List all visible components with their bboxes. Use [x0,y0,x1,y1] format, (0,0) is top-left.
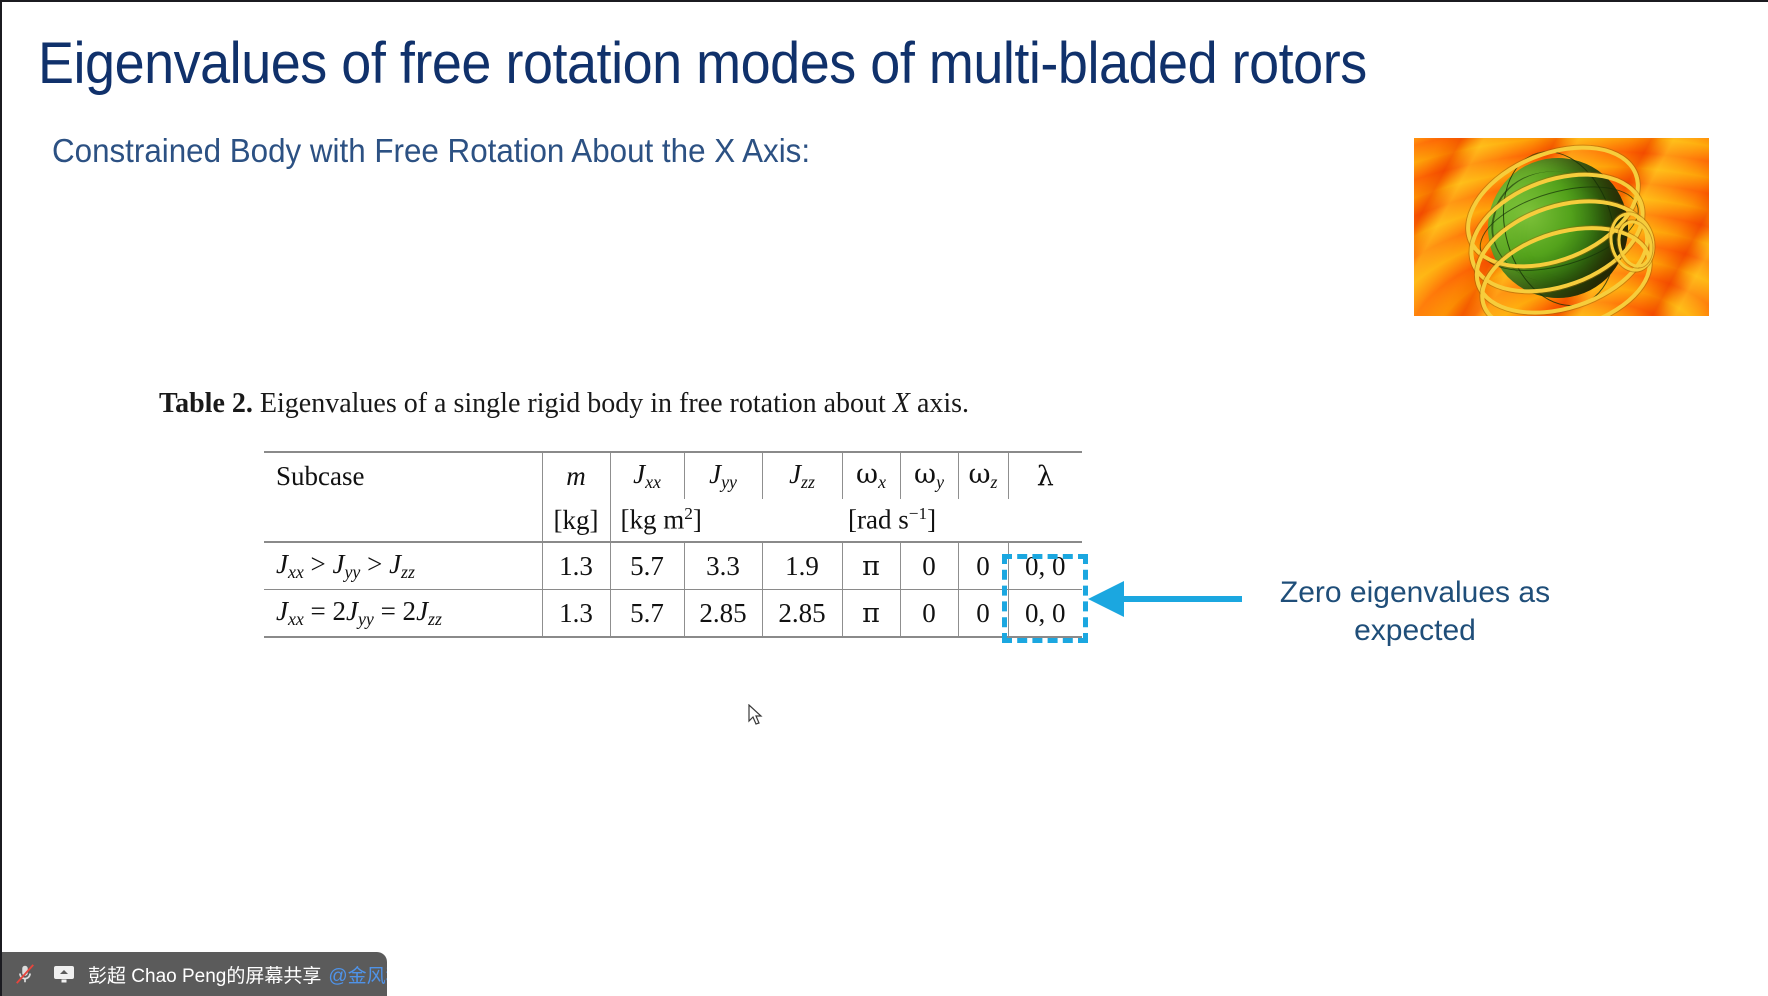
row-jzz: 2.85 [762,590,842,636]
row-lambda: 0, 0 [1008,543,1082,589]
header-jxx: Jxx [610,453,684,499]
row-jxx: 5.7 [610,590,684,636]
row-omega-z: 0 [958,543,1008,589]
row-omega-y: 0 [900,543,958,589]
row-omega-y: 0 [900,590,958,636]
table-caption-text-tail: axis. [917,388,969,419]
mouse-cursor [748,704,764,726]
eigenvalues-table: Subcase m Jxx Jyy Jzz ωx ωy ωz λ [kg] [k… [264,451,1082,638]
annotation-text: Zero eigenvalues as expected [1250,574,1580,649]
header-subcase: Subcase [264,453,542,499]
page-title: Eigenvalues of free rotation modes of mu… [38,32,1619,96]
units-mass: [kg] [542,499,610,541]
annotation-line-2: expected [1250,612,1580,650]
spinning-ball-figure [1414,138,1709,316]
header-omega-z: ωz [958,453,1008,499]
table-body: Subcase m Jxx Jyy Jzz ωx ωy ωz λ [kg] [k… [264,453,1082,541]
row-jyy: 2.85 [684,590,762,636]
row-lambda: 0, 0 [1008,590,1082,636]
table-units-row: [kg] [kg m2] [rad s−1] [264,499,1082,541]
header-omega-x: ωx [842,453,900,499]
row-jyy: 3.3 [684,543,762,589]
table-row: Jxx = 2Jyy = 2Jzz 1.3 5.7 2.85 2.85 π 0 … [264,590,1082,636]
row-subcase: Jxx > Jyy > Jzz [264,543,542,589]
table-data: Jxx > Jyy > Jzz 1.3 5.7 3.3 1.9 π 0 0 0,… [264,543,1082,589]
row-subcase: Jxx = 2Jyy = 2Jzz [264,590,542,636]
header-lambda: λ [1008,453,1082,499]
share-status-text: 彭超 Chao Peng的屏幕共享 [88,961,321,988]
units-omega: [rad s−1] [842,499,1082,541]
table-caption: Table 2. Eigenvalues of a single rigid b… [159,388,969,420]
units-subcase-empty [264,499,542,541]
table-header-row: Subcase m Jxx Jyy Jzz ωx ωy ωz λ [264,453,1082,499]
slide-subtitle: Constrained Body with Free Rotation Abou… [52,132,810,170]
annotation-line-1: Zero eigenvalues as [1250,574,1580,612]
annotation-arrow-icon [1084,577,1244,621]
row-jzz: 1.9 [762,543,842,589]
screen-share-taskbar[interactable]: 彭超 Chao Peng的屏幕共享 @金风科技 [2,952,387,996]
header-mass: m [542,453,610,499]
row-mass: 1.3 [542,590,610,636]
table-caption-axis-symbol: X [893,388,910,419]
header-jzz: Jzz [762,453,842,499]
row-jxx: 5.7 [610,543,684,589]
row-omega-z: 0 [958,590,1008,636]
share-handle-text: @金风科技 [328,961,387,988]
header-jyy: Jyy [684,453,762,499]
microphone-muted-icon[interactable] [10,959,40,989]
table-row: Jxx > Jyy > Jzz 1.3 5.7 3.3 1.9 π 0 0 0,… [264,543,1082,589]
row-mass: 1.3 [542,543,610,589]
screen-share-icon[interactable] [49,959,79,989]
table-bottom-rule [264,636,1082,638]
units-inertia: [kg m2] [610,499,842,541]
row-omega-x: π [842,590,900,636]
table-data-2: Jxx = 2Jyy = 2Jzz 1.3 5.7 2.85 2.85 π 0 … [264,590,1082,636]
header-omega-y: ωy [900,453,958,499]
presentation-slide: Eigenvalues of free rotation modes of mu… [0,0,1768,996]
row-omega-x: π [842,543,900,589]
table-caption-label: Table 2. [159,388,253,419]
table-caption-text: Eigenvalues of a single rigid body in fr… [260,388,886,419]
